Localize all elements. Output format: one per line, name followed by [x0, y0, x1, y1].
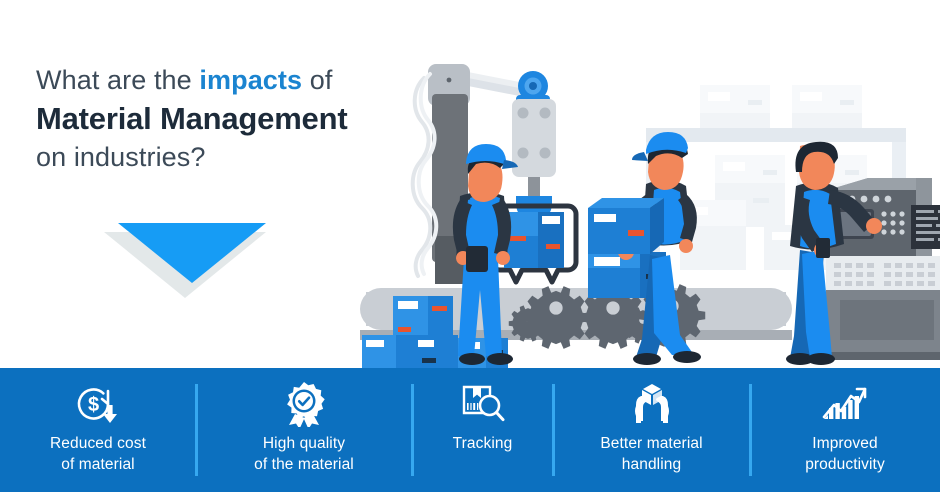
- benefit-label-tracking: Tracking: [453, 433, 513, 454]
- cost-reduction-icon: $: [75, 381, 121, 427]
- down-arrow-blue-triangle: [118, 223, 266, 283]
- benefit-label-line2: of the material: [254, 456, 354, 473]
- headline-accent-word: impacts: [199, 65, 302, 95]
- benefit-divider-1: [195, 384, 198, 476]
- benefit-label-line2: productivity: [805, 456, 885, 473]
- headline-line1-pre: What are the: [36, 65, 199, 95]
- benefit-label-line1: Improved: [812, 435, 877, 452]
- quality-badge-icon: [282, 381, 326, 427]
- benefit-label-better-handling: Better material handling: [600, 433, 702, 475]
- factory-conveyor-scene: [360, 0, 940, 372]
- benefit-label-line2: of material: [61, 456, 134, 473]
- benefits-bar: $ Reduced cost of material: [0, 368, 940, 492]
- svg-text:$: $: [88, 394, 99, 416]
- benefit-label-line1: Tracking: [453, 435, 513, 452]
- down-arrow-chevron: [100, 218, 280, 328]
- benefit-divider-4: [749, 384, 752, 476]
- benefit-label-line1: Better material: [600, 435, 702, 452]
- growth-chart-icon: [821, 381, 869, 427]
- headline-line1-post: of: [302, 65, 332, 95]
- benefit-item-high-quality[interactable]: High quality of the material: [196, 368, 412, 492]
- infographic-root: What are the impacts of Material Managem…: [0, 0, 940, 492]
- benefit-label-line1: High quality: [263, 435, 345, 452]
- benefit-item-improved-productivity[interactable]: Improved productivity: [750, 368, 940, 492]
- benefit-item-better-handling[interactable]: Better material handling: [553, 368, 750, 492]
- benefits-list: $ Reduced cost of material: [0, 368, 940, 492]
- benefit-divider-3: [552, 384, 555, 476]
- hands-holding-box-icon: [630, 381, 674, 427]
- benefit-label-improved-productivity: Improved productivity: [805, 433, 885, 475]
- benefit-item-reduced-cost[interactable]: $ Reduced cost of material: [0, 368, 196, 492]
- benefit-label-high-quality: High quality of the material: [254, 433, 354, 475]
- benefit-divider-2: [411, 384, 414, 476]
- package-tracking-icon: [460, 381, 506, 427]
- benefit-label-line2: handling: [622, 456, 681, 473]
- benefit-item-tracking[interactable]: Tracking: [412, 368, 553, 492]
- benefit-label-line1: Reduced cost: [50, 435, 146, 452]
- benefit-label-reduced-cost: Reduced cost of material: [50, 433, 146, 475]
